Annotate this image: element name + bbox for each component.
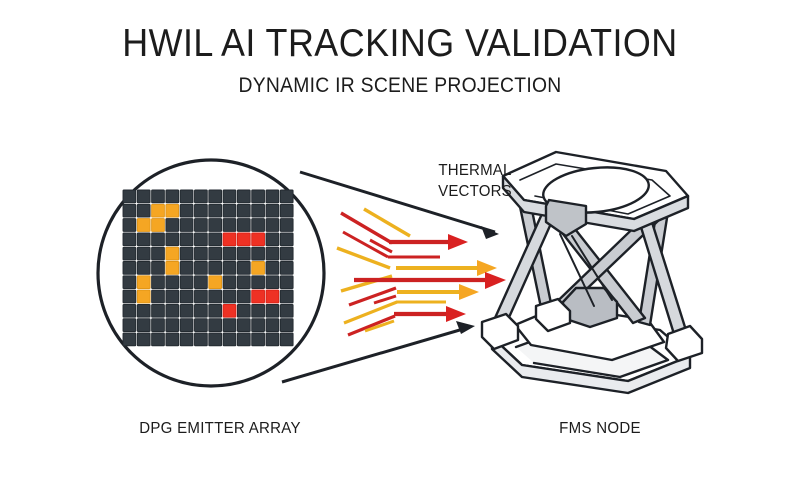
emitter-cell-off	[180, 290, 193, 303]
leader-line-lower	[282, 321, 475, 382]
emitter-cell-lit	[166, 262, 179, 275]
emitter-cell-off	[123, 233, 136, 246]
emitter-cell-off	[123, 333, 136, 346]
emitter-cell-off	[223, 319, 236, 332]
emitter-cell-lit	[166, 204, 179, 217]
emitter-cell-off	[280, 333, 293, 346]
emitter-cell-off	[237, 190, 250, 203]
page-subtitle: DYNAMIC IR SCENE PROJECTION	[32, 74, 768, 98]
thermal-arrow-3	[354, 272, 506, 289]
emitter-cell-off	[137, 319, 150, 332]
emitter-cell-off	[137, 204, 150, 217]
dpg-emitter-array	[123, 190, 293, 346]
page-title: HWIL AI TRACKING VALIDATION	[32, 22, 768, 66]
emitter-cell-off	[252, 304, 265, 317]
emitter-cell-off	[266, 333, 279, 346]
emitter-cell-off	[152, 190, 165, 203]
emitter-cell-off	[237, 333, 250, 346]
emitter-cell-off	[223, 276, 236, 289]
emitter-cell-off	[180, 204, 193, 217]
emitter-cell-off	[180, 247, 193, 260]
emitter-cell-off	[223, 333, 236, 346]
emitter-cell-off	[266, 319, 279, 332]
emitter-cell-off	[223, 247, 236, 260]
emitter-cell-off	[152, 319, 165, 332]
emitter-cell-off	[195, 262, 208, 275]
emitter-cell-off	[166, 333, 179, 346]
emitter-cell-off	[223, 190, 236, 203]
emitter-cell-off	[180, 219, 193, 232]
emitter-cell-off	[266, 233, 279, 246]
emitter-cell-off	[280, 233, 293, 246]
emitter-cell-off	[123, 204, 136, 217]
node-x-brace	[541, 201, 660, 327]
emitter-cell-off	[137, 304, 150, 317]
emitter-cell-off	[280, 276, 293, 289]
emitter-cell-off	[209, 290, 222, 303]
emitter-cell-off	[195, 233, 208, 246]
emitter-cell-off	[123, 190, 136, 203]
emitter-cell-off	[152, 333, 165, 346]
emitter-cell-off	[137, 333, 150, 346]
thermal-vectors-label: THERMAL VECTORS	[405, 160, 546, 202]
emitter-cell-off	[252, 276, 265, 289]
emitter-cell-off	[252, 219, 265, 232]
emitter-cell-off	[223, 219, 236, 232]
thermal-arrow-5	[394, 306, 466, 322]
emitter-cell-lit	[166, 247, 179, 260]
emitter-cell-off	[266, 247, 279, 260]
emitter-cell-off	[266, 190, 279, 203]
emitter-cell-lit	[237, 233, 250, 246]
emitter-cell-off	[123, 319, 136, 332]
emitter-cell-off	[280, 319, 293, 332]
emitter-cell-off	[237, 204, 250, 217]
emitter-cell-off	[195, 333, 208, 346]
emitter-cell-off	[123, 290, 136, 303]
emitter-cell-off	[166, 219, 179, 232]
emitter-cell-off	[280, 304, 293, 317]
emitter-cell-off	[209, 204, 222, 217]
emitter-cell-off	[137, 247, 150, 260]
emitter-cell-off	[152, 247, 165, 260]
emitter-cell-lit	[223, 304, 236, 317]
emitter-cell-off	[252, 247, 265, 260]
emitter-cell-off	[195, 319, 208, 332]
emitter-cell-lit	[152, 219, 165, 232]
emitter-cell-off	[195, 304, 208, 317]
emitter-cell-lit	[152, 204, 165, 217]
emitter-cell-lit	[252, 262, 265, 275]
emitter-cell-off	[266, 219, 279, 232]
emitter-cell-off	[266, 276, 279, 289]
emitter-cell-off	[152, 276, 165, 289]
emitter-cell-off	[180, 304, 193, 317]
emitter-cell-off	[237, 262, 250, 275]
node-lower-deck	[515, 306, 664, 360]
emitter-cell-off	[252, 204, 265, 217]
diagram-root: HWIL AI TRACKING VALIDATION DYNAMIC IR S…	[0, 0, 800, 489]
node-base-plate	[492, 313, 690, 393]
emitter-cell-off	[209, 333, 222, 346]
node-foot-back	[536, 299, 570, 331]
caption-emitter-array: DPG EMITTER ARRAY	[79, 420, 361, 438]
emitter-cell-off	[237, 319, 250, 332]
emitter-cell-off	[152, 262, 165, 275]
emitter-cell-off	[223, 262, 236, 275]
emitter-cell-lit	[137, 276, 150, 289]
emitter-cell-off	[280, 262, 293, 275]
emitter-cell-off	[137, 262, 150, 275]
emitter-cell-off	[166, 233, 179, 246]
emitter-cell-off	[280, 204, 293, 217]
emitter-cell-off	[137, 233, 150, 246]
emitter-cell-lit	[252, 290, 265, 303]
emitter-cell-off	[123, 247, 136, 260]
emitter-cell-lit	[266, 290, 279, 303]
emitter-cell-off	[180, 262, 193, 275]
emitter-cell-off	[280, 290, 293, 303]
emitter-cell-off	[252, 319, 265, 332]
emitter-cell-lit	[137, 219, 150, 232]
thermal-arrow-2	[396, 260, 497, 276]
emitter-cell-off	[252, 333, 265, 346]
emitter-cell-off	[166, 304, 179, 317]
emitter-cell-off	[223, 204, 236, 217]
emitter-cell-off	[195, 190, 208, 203]
caption-fms-node: FMS NODE	[478, 420, 722, 438]
emitter-cell-off	[152, 290, 165, 303]
emitter-cell-off	[180, 319, 193, 332]
emitter-cell-off	[266, 262, 279, 275]
emitter-cell-off	[166, 190, 179, 203]
emitter-cell-off	[137, 190, 150, 203]
thermal-vector-field	[337, 209, 506, 335]
emitter-cell-lit	[223, 233, 236, 246]
emitter-cell-off	[123, 262, 136, 275]
emitter-cell-off	[195, 204, 208, 217]
emitter-cell-off	[266, 204, 279, 217]
thermal-vectors-line2: VECTORS	[438, 183, 512, 200]
emitter-cell-off	[180, 233, 193, 246]
emitter-cell-off	[209, 190, 222, 203]
node-foot-right	[666, 326, 702, 361]
emitter-cell-lit	[137, 290, 150, 303]
emitter-cell-off	[195, 290, 208, 303]
emitter-cell-off	[195, 219, 208, 232]
emitter-cell-off	[209, 233, 222, 246]
emitter-cell-off	[209, 247, 222, 260]
emitter-cell-off	[237, 247, 250, 260]
emitter-cell-off	[223, 290, 236, 303]
emitter-cell-off	[266, 304, 279, 317]
emitter-cell-off	[237, 276, 250, 289]
emitter-cell-off	[237, 304, 250, 317]
emitter-cell-off	[195, 276, 208, 289]
emitter-cell-off	[209, 304, 222, 317]
magnifier-circle	[98, 160, 324, 386]
emitter-cell-off	[280, 190, 293, 203]
node-strut-front-right	[628, 181, 690, 347]
emitter-cell-off	[237, 290, 250, 303]
emitter-cell-off	[166, 319, 179, 332]
node-top-hub	[546, 200, 586, 236]
node-foot-left	[482, 314, 518, 349]
emitter-cell-off	[280, 219, 293, 232]
emitter-cell-off	[166, 276, 179, 289]
emitter-cell-off	[252, 190, 265, 203]
emitter-cell-off	[180, 333, 193, 346]
thermal-arrow-4	[397, 284, 479, 300]
node-strut-front-left	[490, 185, 566, 333]
emitter-cell-off	[152, 233, 165, 246]
emitter-cell-off	[166, 290, 179, 303]
thermal-vectors-line1: THERMAL	[438, 162, 511, 179]
emitter-cell-off	[280, 247, 293, 260]
emitter-cell-off	[152, 304, 165, 317]
emitter-cell-off	[123, 276, 136, 289]
emitter-cell-lit	[209, 276, 222, 289]
emitter-cell-off	[237, 219, 250, 232]
emitter-cell-off	[195, 247, 208, 260]
emitter-cell-off	[209, 262, 222, 275]
emitter-cell-lit	[252, 233, 265, 246]
emitter-cell-off	[180, 276, 193, 289]
thermal-arrow-1	[389, 234, 468, 250]
emitter-cell-off	[180, 190, 193, 203]
emitter-cell-off	[123, 219, 136, 232]
emitter-cell-off	[209, 219, 222, 232]
node-strut-back-right	[639, 196, 670, 325]
node-tie-bars	[560, 234, 612, 306]
emitter-cell-off	[209, 319, 222, 332]
emitter-cell-off	[123, 304, 136, 317]
